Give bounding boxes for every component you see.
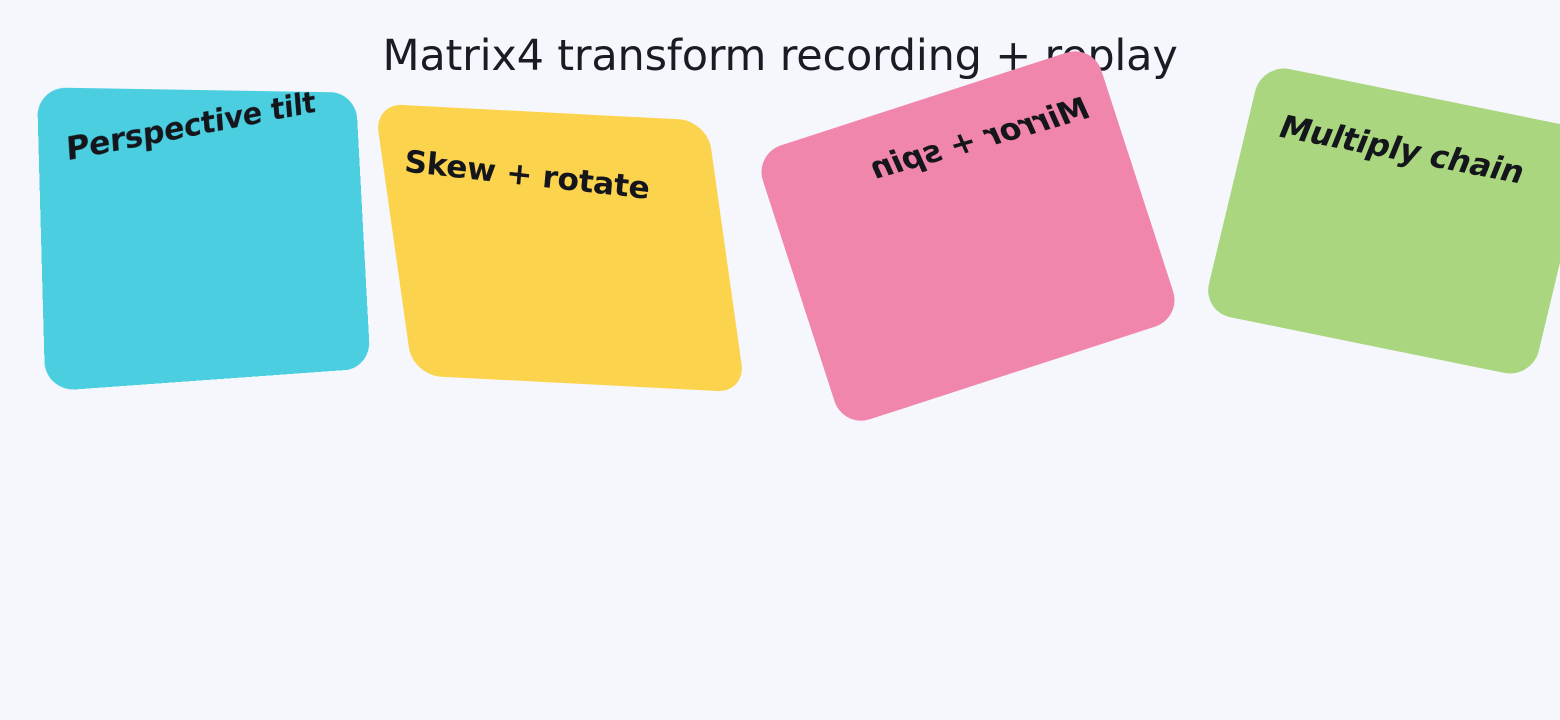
transform-demo-stage: Matrix4 transform recording + replay Per… <box>0 0 1560 720</box>
transform-card-row: Perspective tilt Skew + rotate Mirror + … <box>0 0 1560 720</box>
card-label-perspective-tilt: Perspective tilt <box>65 86 317 168</box>
card-label-skew-rotate: Skew + rotate <box>403 145 651 206</box>
card-label-multiply-chain: Multiply chain <box>1274 110 1530 190</box>
transform-card-perspective-tilt[interactable]: Perspective tilt <box>37 87 371 391</box>
card-label-mirror-spin: Mirror + spin <box>864 92 1095 186</box>
transform-card-mirror-spin[interactable]: Mirror + spin <box>754 44 1182 428</box>
transform-card-skew-rotate[interactable]: Skew + rotate <box>374 104 745 393</box>
transform-card-multiply-chain[interactable]: Multiply chain <box>1202 63 1560 378</box>
